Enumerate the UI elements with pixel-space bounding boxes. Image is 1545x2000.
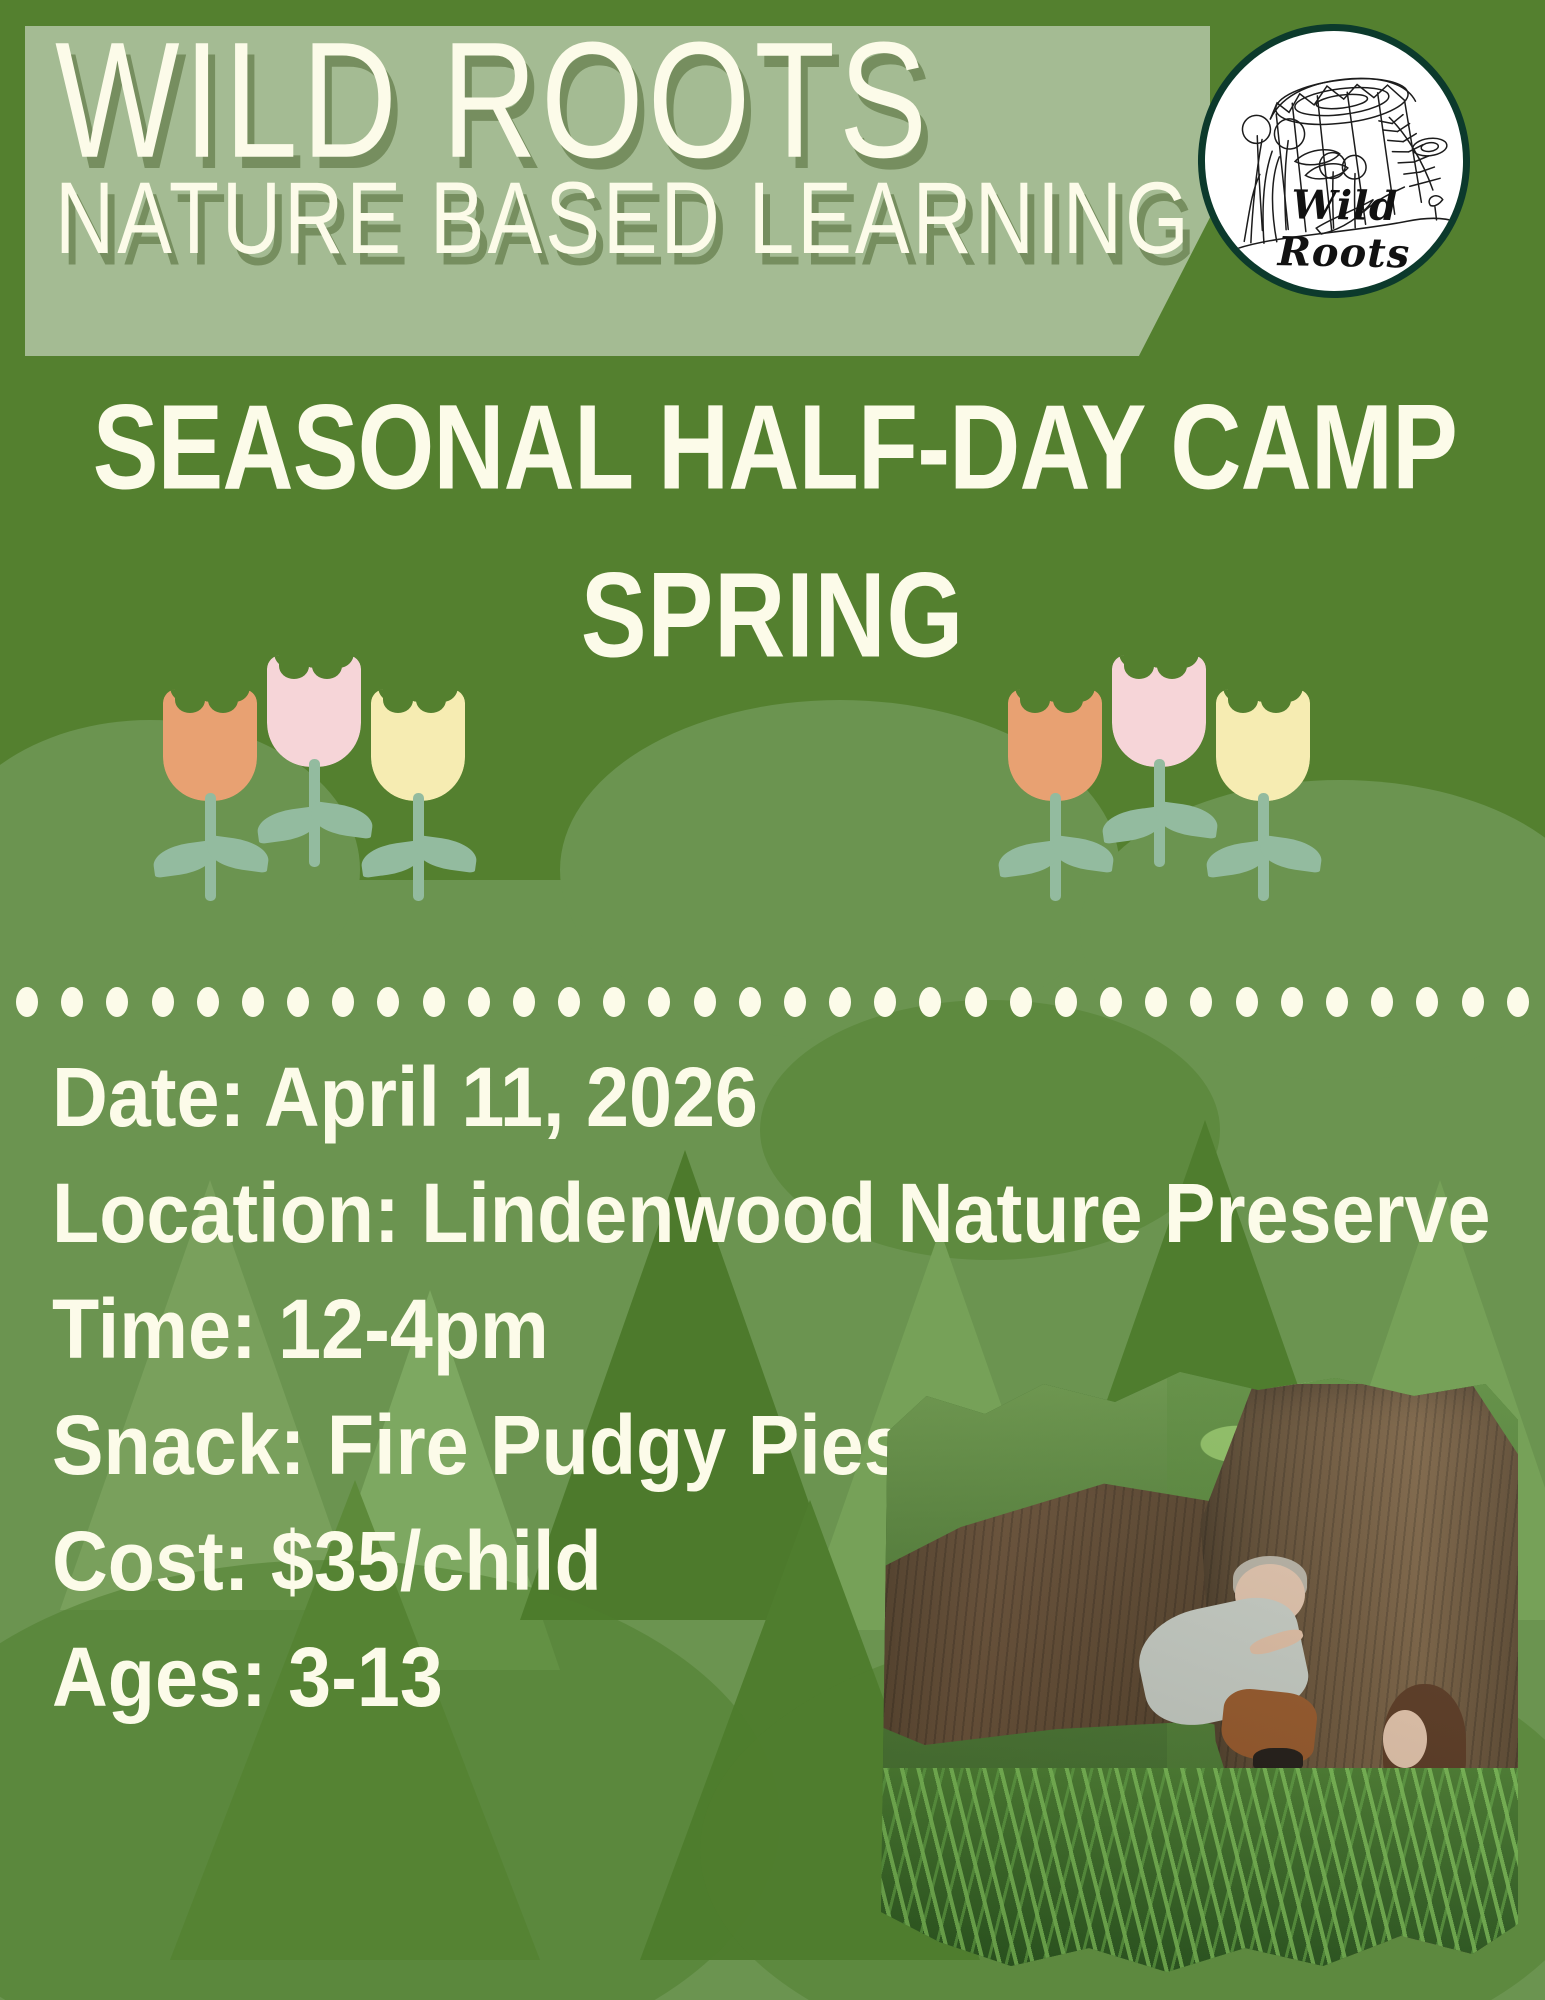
detail-time: Time: 12-4pm [52, 1272, 1156, 1388]
divider-dot [1371, 987, 1393, 1017]
brand-lockup: WILD ROOTS NATURE BASED LEARNING [55, 18, 1175, 250]
divider-dot [423, 987, 445, 1017]
divider-dot [377, 987, 399, 1017]
divider-dot [1416, 987, 1438, 1017]
children-climbing-fallen-tree-photo [868, 1372, 1518, 1972]
divider-dot [919, 987, 941, 1017]
divider-dot [106, 987, 128, 1017]
brand-name: WILD ROOTS [55, 18, 1175, 183]
brand-tagline: NATURE BASED LEARNING [55, 168, 1175, 271]
divider-dot [152, 987, 174, 1017]
divider-dot [558, 987, 580, 1017]
divider-dot [468, 987, 490, 1017]
divider-dot [603, 987, 625, 1017]
divider-dot [513, 987, 535, 1017]
divider-dot [1055, 987, 1077, 1017]
divider-dot [965, 987, 987, 1017]
divider-dot [739, 987, 761, 1017]
divider-dot [1190, 987, 1212, 1017]
orange-tulip-icon [155, 689, 265, 904]
page-title: SEASONAL HALF-DAY CAMP [93, 388, 1453, 507]
divider-dot [1145, 987, 1167, 1017]
divider-dot [1236, 987, 1258, 1017]
orange-tulip-icon [1000, 689, 1110, 904]
divider-dot [1326, 987, 1348, 1017]
pink-tulip-icon [259, 655, 369, 870]
detail-location: Location: Lindenwood Nature Preserve [52, 1156, 1156, 1272]
divider-dot [1010, 987, 1032, 1017]
yellow-tulip-icon [1208, 689, 1318, 904]
detail-date: Date: April 11, 2026 [52, 1040, 1156, 1156]
tulip-cluster-right [1000, 655, 1318, 904]
divider-dot [1462, 987, 1484, 1017]
yellow-tulip-icon [363, 689, 473, 904]
dotted-divider [0, 985, 1545, 1019]
divider-dot [1507, 987, 1529, 1017]
divider-dot [197, 987, 219, 1017]
divider-dot [242, 987, 264, 1017]
divider-dot [694, 987, 716, 1017]
photo-shading [868, 1372, 1518, 1972]
divider-dot [829, 987, 851, 1017]
divider-dot [874, 987, 896, 1017]
logo-wordmark: Wild Roots [1223, 180, 1467, 278]
divider-dot [61, 987, 83, 1017]
divider-dot [784, 987, 806, 1017]
divider-dot [16, 987, 38, 1017]
divider-dot [287, 987, 309, 1017]
poster-canvas: WILD ROOTS NATURE BASED LEARNING [0, 0, 1545, 2000]
divider-dot [1100, 987, 1122, 1017]
pink-tulip-icon [1104, 655, 1214, 870]
wild-roots-logo-badge: Wild Roots [1182, 8, 1485, 313]
divider-dot [332, 987, 354, 1017]
divider-dot [1281, 987, 1303, 1017]
tulip-cluster-left [155, 655, 473, 904]
divider-dot [648, 987, 670, 1017]
